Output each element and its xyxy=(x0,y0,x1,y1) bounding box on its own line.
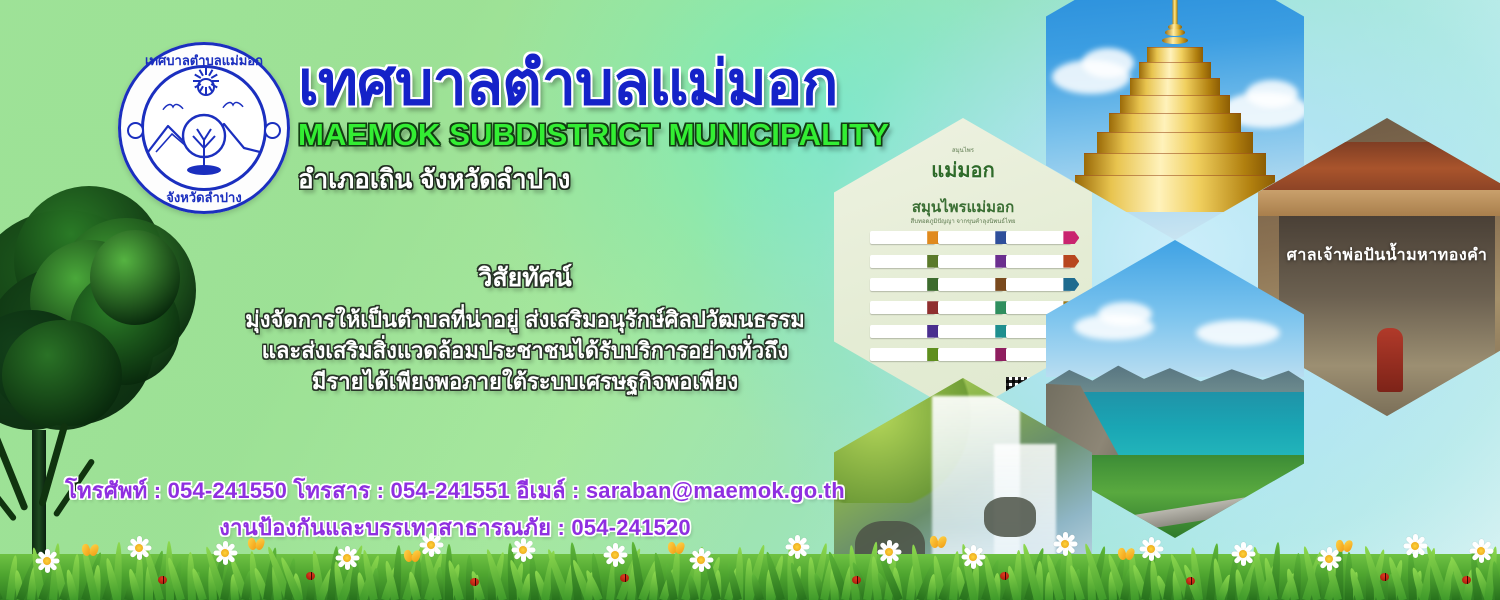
page-subtitle: อำเภอเถิน จังหวัดลำปาง xyxy=(298,159,958,200)
butterfly xyxy=(930,536,946,548)
product-chip xyxy=(1006,255,1071,268)
daisy-flower xyxy=(1232,543,1254,565)
daisy-flower xyxy=(1140,538,1162,560)
header-block: เทศบาลตำบลแม่มอก MAEMOK SUBDISTRICT MUNI… xyxy=(298,52,958,200)
daisy-flower xyxy=(336,547,358,569)
butterfly xyxy=(1336,540,1352,552)
butterfly xyxy=(404,550,420,562)
shrine-caption: ศาลเจ้าพ่อปันน้ำมหาทองคำ xyxy=(1258,243,1500,268)
daisy-flower xyxy=(1054,533,1076,555)
logo-arc-top-text: เทศบาลตำบลแม่มอก xyxy=(118,50,290,71)
product-chip xyxy=(870,325,935,338)
product-chip xyxy=(938,301,1003,314)
daisy-flower xyxy=(420,534,442,556)
butterfly xyxy=(668,542,684,554)
product-chip xyxy=(870,278,935,291)
shrine-statue xyxy=(1377,328,1403,392)
vision-line-2: และส่งเสริมสิ่งแวดล้อมประชาชนได้รับบริกา… xyxy=(215,335,835,366)
tree-foliage xyxy=(2,320,122,430)
vision-line-3: มีรายได้เพียงพอภายใต้ระบบเศรษฐกิจพอเพียง xyxy=(215,366,835,397)
municipality-logo[interactable]: เทศบาลตำบลแม่มอก จังหวัดลำปาง xyxy=(118,42,290,214)
product-chip xyxy=(870,301,935,314)
poster-product-grid xyxy=(870,231,1071,368)
product-chip xyxy=(938,325,1003,338)
daisy-flower xyxy=(36,550,58,572)
ladybug xyxy=(158,576,167,584)
poster-subtitle: สืบทอดภูมิปัญญา จากขุนคำลุงนิพนธ์ไทย xyxy=(834,216,1092,226)
butterfly xyxy=(248,538,264,550)
ladybug xyxy=(470,578,479,586)
pagoda-structure xyxy=(1075,0,1275,212)
ladybug xyxy=(620,574,629,582)
ladybug xyxy=(306,572,315,580)
sun-icon xyxy=(197,78,215,96)
product-chip xyxy=(1006,231,1071,244)
rosette-icon xyxy=(127,122,144,139)
butterfly xyxy=(82,544,98,556)
daisy-flower xyxy=(1404,535,1426,557)
product-chip xyxy=(870,255,935,268)
daisy-flower xyxy=(962,546,984,568)
daisy-flower xyxy=(878,541,900,563)
product-chip xyxy=(1006,278,1071,291)
product-chip xyxy=(938,348,1003,361)
ladybug xyxy=(1186,577,1195,585)
daisy-flower xyxy=(512,539,534,561)
product-chip xyxy=(938,231,1003,244)
product-chip xyxy=(938,278,1003,291)
ladybug xyxy=(1462,576,1471,584)
ladybug xyxy=(852,576,861,584)
tree-foliage xyxy=(90,230,180,325)
grass-border-decoration xyxy=(0,528,1500,600)
product-chip xyxy=(870,231,935,244)
page-title-english: MAEMOK SUBDISTRICT MUNICIPALITY xyxy=(298,117,958,153)
ladybug xyxy=(1380,573,1389,581)
ladybug xyxy=(1000,572,1009,580)
product-chip xyxy=(938,255,1003,268)
vision-statement: วิสัยทัศน์ มุ่งจัดการให้เป็นตำบลที่น่าอย… xyxy=(215,258,835,398)
tree-branch xyxy=(0,425,29,511)
contact-line-phone-fax-email: โทรศัพท์ : 054-241550 โทรสาร : 054-24155… xyxy=(60,474,850,507)
vision-heading: วิสัยทัศน์ xyxy=(215,258,835,298)
butterfly xyxy=(1118,548,1134,560)
logo-arc-bottom-text: จังหวัดลำปาง xyxy=(118,187,290,208)
product-chip xyxy=(870,348,935,361)
daisy-flower xyxy=(690,549,712,571)
daisy-flower xyxy=(128,537,150,559)
page-title-thai: เทศบาลตำบลแม่มอก xyxy=(298,52,958,115)
bird-icon xyxy=(222,100,244,110)
municipality-banner: สมุนไพร แม่มอก สมุนไพรแม่มอก สืบทอดภูมิป… xyxy=(0,0,1500,600)
qr-code-icon xyxy=(1006,377,1030,401)
daisy-flower xyxy=(604,544,626,566)
tree-icon xyxy=(176,110,232,176)
rosette-icon xyxy=(264,122,281,139)
vision-line-1: มุ่งจัดการให้เป็นตำบลที่น่าอยู่ ส่งเสริม… xyxy=(215,304,835,335)
daisy-flower xyxy=(786,536,808,558)
daisy-flower xyxy=(214,542,236,564)
daisy-flower xyxy=(1470,540,1492,562)
